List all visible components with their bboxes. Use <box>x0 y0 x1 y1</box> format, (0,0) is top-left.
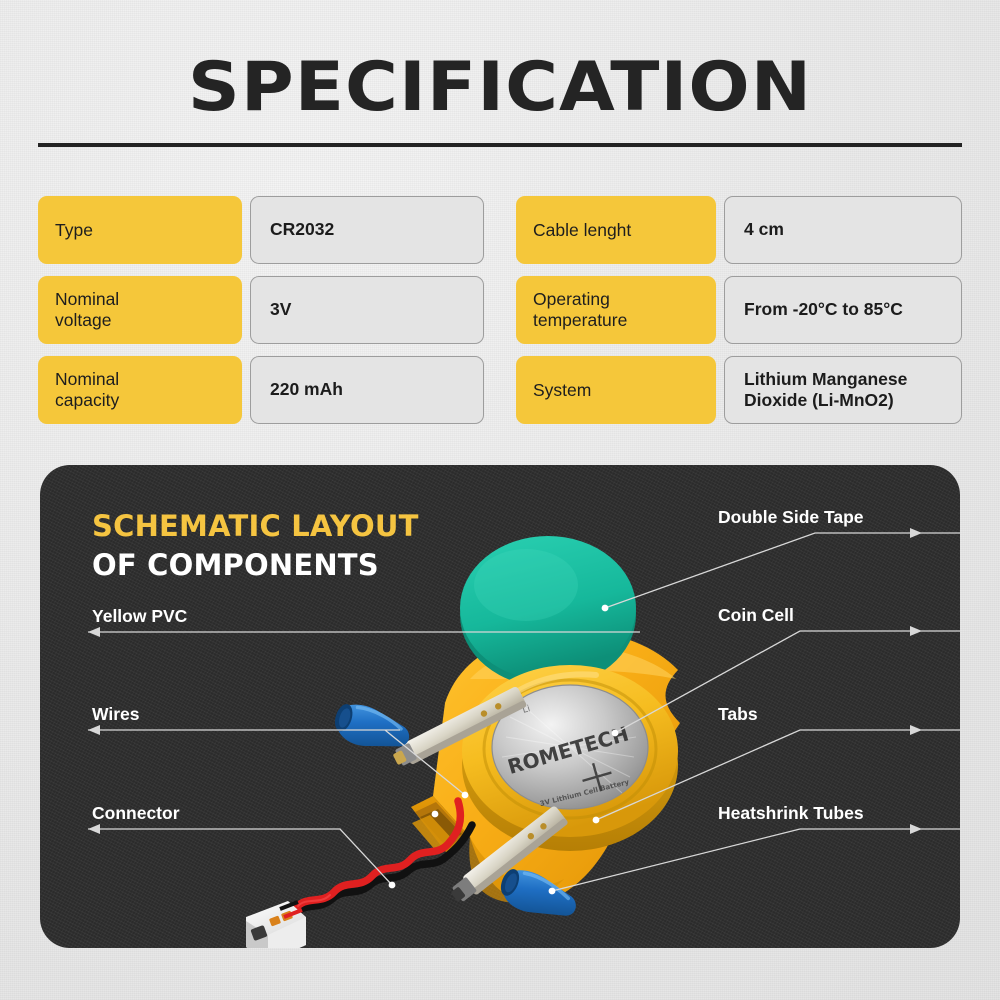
callout-heatshrink-tubes: Heatshrink Tubes <box>718 803 864 824</box>
schematic-heading-line2: OF COMPONENTS <box>92 546 419 585</box>
table-row: Cable lenght 4 cm <box>516 196 962 264</box>
table-row: Nominal capacity 220 mAh <box>38 356 484 424</box>
spec-value-nominal-voltage: 3V <box>250 276 484 344</box>
callout-wires: Wires <box>92 704 140 725</box>
table-row: Nominal voltage 3V <box>38 276 484 344</box>
table-row: Operating temperature From -20°C to 85°C <box>516 276 962 344</box>
schematic-heading: SCHEMATIC LAYOUT OF COMPONENTS <box>92 507 419 584</box>
table-row: System Lithium Manganese Dioxide (Li-MnO… <box>516 356 962 424</box>
leader-anchor-dot <box>389 605 619 895</box>
schematic-heading-line1: SCHEMATIC LAYOUT <box>92 507 419 546</box>
spec-value-operating-temperature: From -20°C to 85°C <box>724 276 962 344</box>
spec-key-nominal-voltage: Nominal voltage <box>38 276 242 344</box>
spec-value-cable-lenght: 4 cm <box>724 196 962 264</box>
callout-yellow-pvc: Yellow PVC <box>92 606 187 627</box>
spec-key-nominal-capacity: Nominal capacity <box>38 356 242 424</box>
arrow-right <box>910 528 922 834</box>
title-divider <box>38 143 962 147</box>
callout-connector: Connector <box>92 803 180 824</box>
spec-value-type: CR2032 <box>250 196 484 264</box>
schematic-layout-panel: SCHEMATIC LAYOUT OF COMPONENTS <box>40 465 960 948</box>
table-row: Type CR2032 <box>38 196 484 264</box>
spec-key-cable-lenght: Cable lenght <box>516 196 716 264</box>
spec-key-operating-temperature: Operating temperature <box>516 276 716 344</box>
spec-key-type: Type <box>38 196 242 264</box>
callout-coin-cell: Coin Cell <box>718 605 794 626</box>
specification-table: Type CR2032 Nominal voltage 3V Nominal c… <box>38 196 962 426</box>
specification-infographic: SPECIFICATION Type CR2032 Nominal voltag… <box>0 0 1000 1000</box>
callout-tabs: Tabs <box>718 704 758 725</box>
callout-double-side-tape: Double Side Tape <box>718 507 864 528</box>
spec-key-system: System <box>516 356 716 424</box>
spec-value-nominal-capacity: 220 mAh <box>250 356 484 424</box>
spec-value-system: Lithium Manganese Dioxide (Li-MnO2) <box>724 356 962 424</box>
page-title: SPECIFICATION <box>0 48 1000 127</box>
